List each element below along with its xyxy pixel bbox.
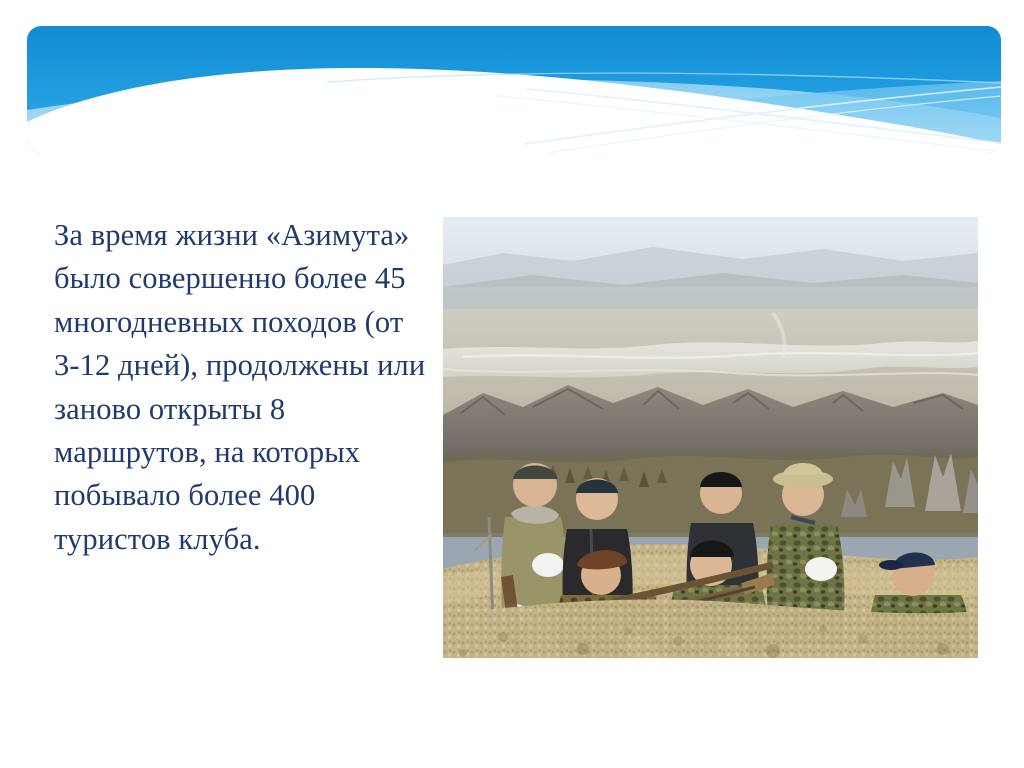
group-photo-mountain-summit: [443, 217, 978, 658]
presentation-slide: За время жизни «Азимута» было совершенно…: [0, 0, 1024, 768]
banner-arc-line: [327, 73, 1001, 83]
photo-pole-guy-line: [473, 535, 491, 552]
slide-body-text: За время жизни «Азимута» было совершенно…: [54, 214, 434, 561]
banner-base-fill: [27, 26, 1001, 153]
banner-line-down: [527, 89, 1001, 143]
banner-white-swoosh: [27, 68, 1001, 153]
decorative-wave-banner: [27, 26, 1001, 153]
banner-pale-wave: [27, 79, 1001, 153]
banner-line-down-2: [497, 96, 1001, 152]
banner-mid-wave: [27, 81, 1001, 153]
banner-line-up-2: [547, 96, 1001, 153]
banner-line-up: [525, 87, 1001, 144]
